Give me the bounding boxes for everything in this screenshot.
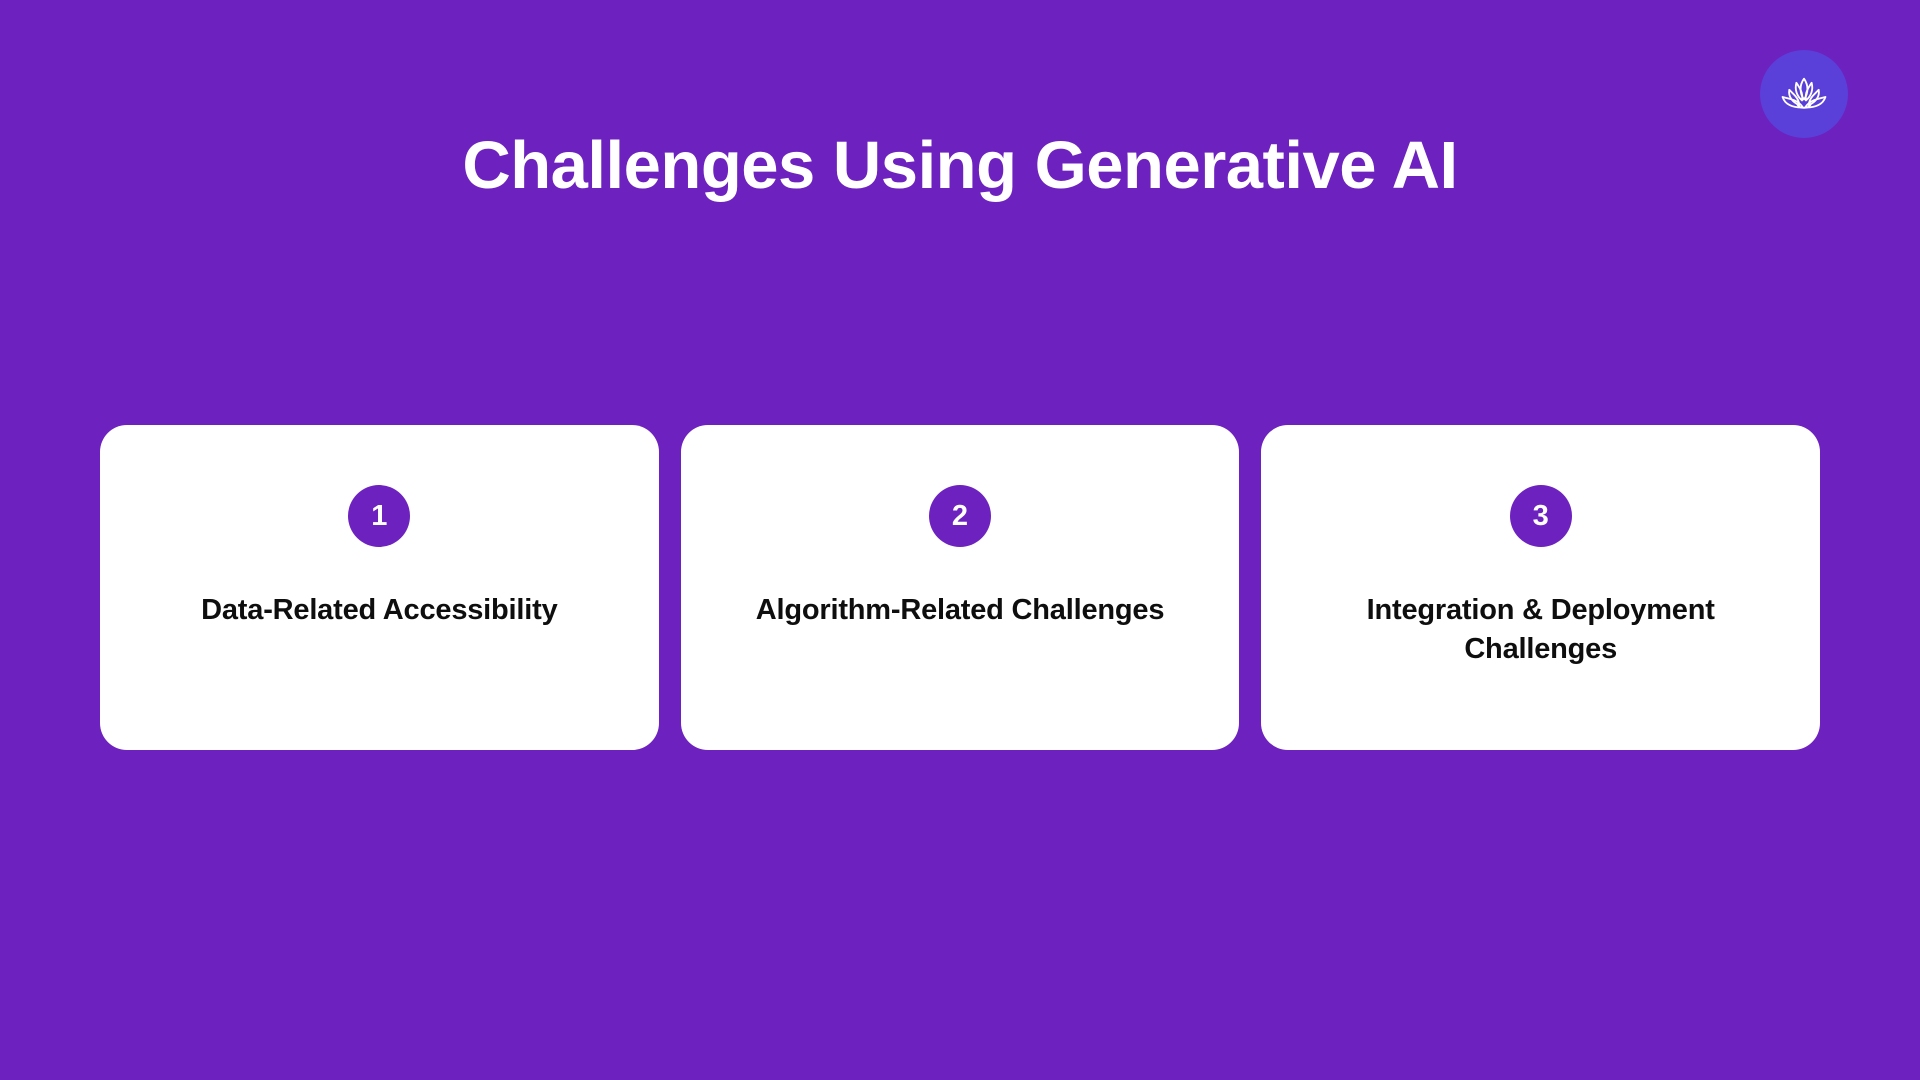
card-label: Integration & Deployment Challenges [1326,591,1756,668]
card-number-badge: 1 [348,485,410,547]
card-label: Algorithm-Related Challenges [756,591,1165,630]
card-label: Data-Related Accessibility [201,591,557,630]
brand-logo [1760,50,1848,138]
card-number-badge: 3 [1510,485,1572,547]
card-number-badge: 2 [929,485,991,547]
challenge-card-3[interactable]: 3 Integration & Deployment Challenges [1261,425,1820,750]
challenge-card-2[interactable]: 2 Algorithm-Related Challenges [681,425,1240,750]
page-title: Challenges Using Generative AI [0,128,1920,203]
challenge-card-1[interactable]: 1 Data-Related Accessibility [100,425,659,750]
lotus-flower-icon [1776,66,1832,122]
slide-canvas: Challenges Using Generative AI 1 Data-Re… [0,0,1920,1080]
challenge-cards-row: 1 Data-Related Accessibility 2 Algorithm… [100,425,1820,750]
